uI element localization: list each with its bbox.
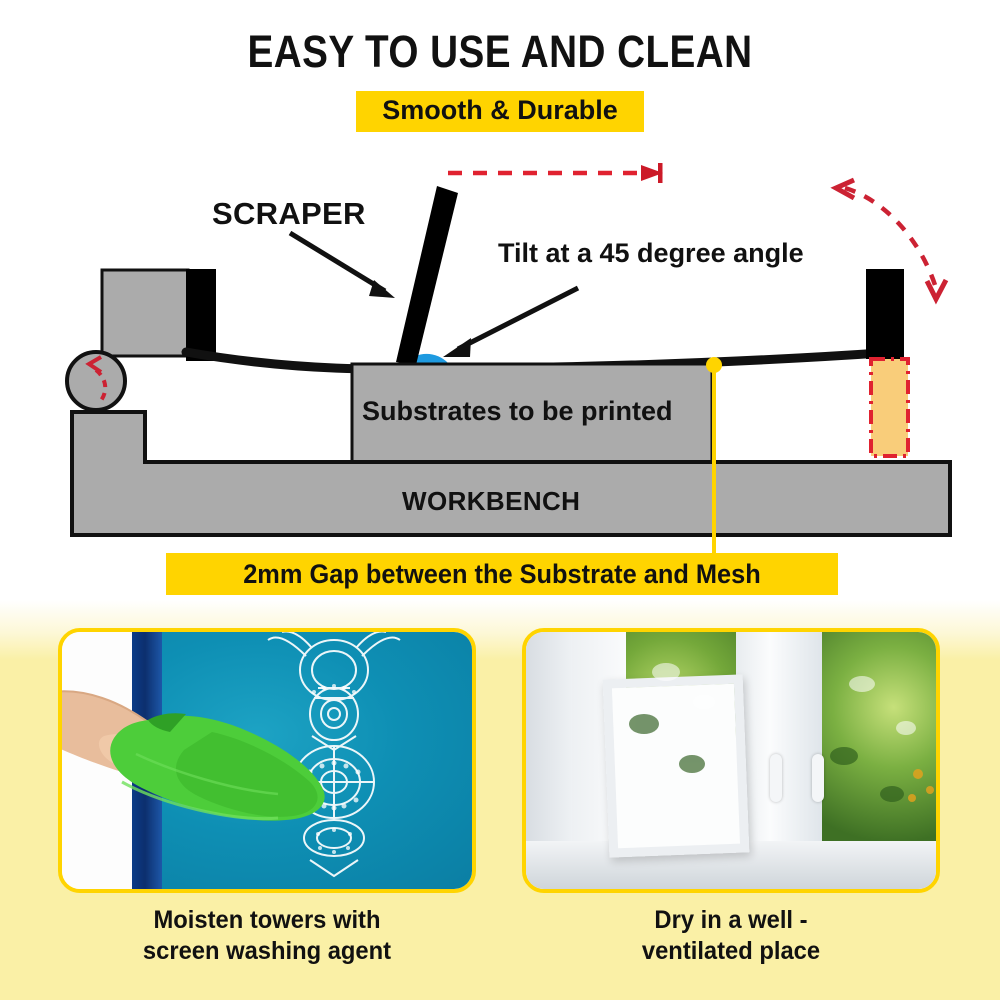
photo2-window-left-pane — [526, 632, 572, 872]
card-2-caption-line-1: Dry in a well - — [532, 905, 929, 936]
mesh-travel-arrow-icon — [448, 163, 663, 183]
care-steps-section: Moisten towers with screen washing agent — [0, 628, 1000, 1000]
label-substrate: Substrates to be printed — [362, 396, 673, 427]
photo-dry-windowsill — [522, 628, 940, 893]
screen-printing-diagram: SCRAPER Tilt at a 45 degree angle Substr… — [0, 0, 1000, 610]
gap-callout-text: 2mm Gap between the Substrate and Mesh — [186, 559, 818, 590]
card-1-caption: Moisten towers with screen washing agent — [68, 905, 465, 966]
card-1-caption-line-2: screen washing agent — [68, 936, 465, 967]
diagram-svg — [0, 0, 1000, 610]
photo2-drying-frame — [603, 674, 750, 857]
left-hinge-black-jaw — [186, 269, 216, 361]
photo2-window-mullion — [736, 632, 822, 864]
scraper-blade — [396, 186, 458, 365]
photo2-frame-mesh — [612, 684, 740, 849]
gap-spacer-block — [871, 359, 908, 456]
label-tilt-angle: Tilt at a 45 degree angle — [498, 238, 804, 269]
scraper-leader-arrow-icon — [290, 233, 395, 298]
label-workbench: WORKBENCH — [402, 486, 580, 517]
label-scraper: SCRAPER — [212, 196, 366, 232]
card-2-caption-line-2: ventilated place — [532, 936, 929, 967]
care-step-card-1: Moisten towers with screen washing agent — [58, 628, 476, 966]
photo-moisten-towel — [58, 628, 476, 893]
photo2-tree-right — [818, 632, 940, 847]
photo1-artwork — [62, 632, 476, 893]
photo2-window-handle-2 — [812, 754, 824, 802]
left-hinge-gray-block — [102, 270, 188, 356]
right-hinge-black-post — [866, 269, 904, 359]
card-2-caption: Dry in a well - ventilated place — [532, 905, 929, 966]
microfiber-cloth-graphic — [110, 713, 324, 820]
tilt-leader-arrow-icon — [443, 288, 578, 357]
photo2-window-handle-1 — [770, 754, 782, 802]
product-infographic-page: EASY TO USE AND CLEAN Smooth & Durable — [0, 0, 1000, 1000]
card-1-caption-line-1: Moisten towers with — [68, 905, 465, 936]
care-step-card-2: Dry in a well - ventilated place — [522, 628, 940, 966]
gap-indicator-dot — [706, 357, 722, 373]
gap-callout-banner: 2mm Gap between the Substrate and Mesh — [166, 553, 838, 595]
